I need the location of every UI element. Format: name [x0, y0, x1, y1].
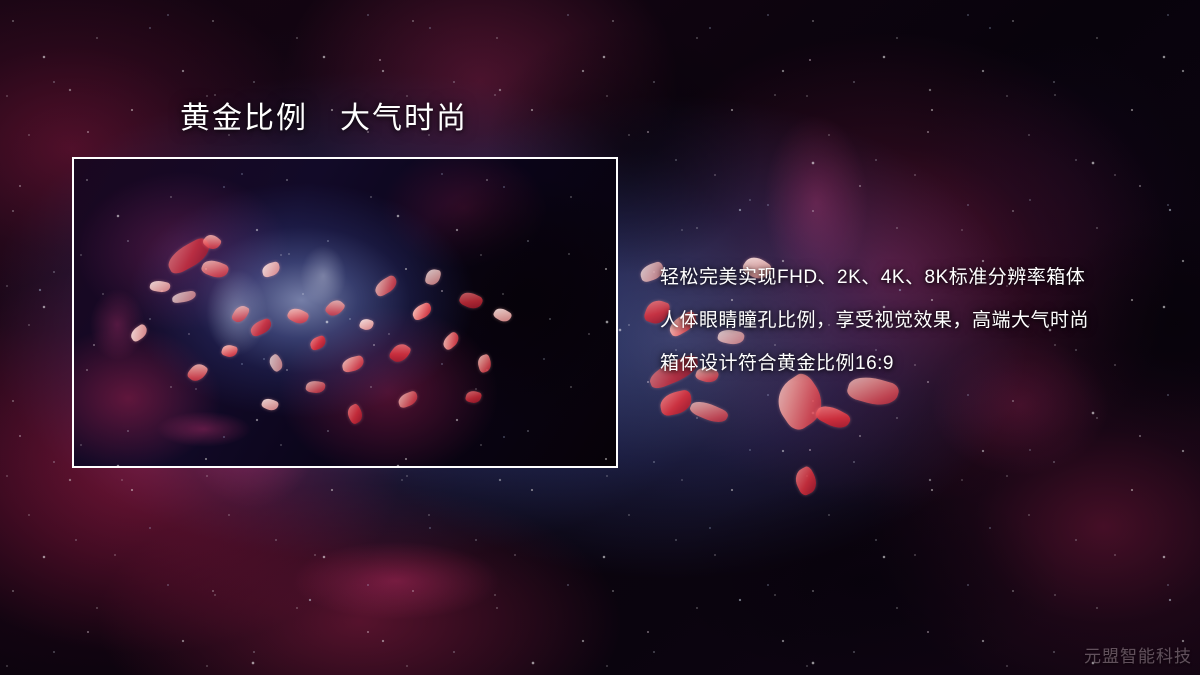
body-text-block: 轻松完美实现FHD、2K、4K、8K标准分辨率箱体 人体眼睛瞳孔比例，享受视觉效…	[660, 256, 1180, 385]
watermark: 元盟智能科技	[1084, 642, 1192, 667]
body-line-1: 轻松完美实现FHD、2K、4K、8K标准分辨率箱体	[660, 256, 1180, 299]
framed-image-wisps	[74, 159, 616, 466]
body-line-2: 人体眼睛瞳孔比例，享受视觉效果，高端大气时尚	[660, 299, 1180, 342]
slide-canvas: 黄金比例 大气时尚 轻松完美实现FHD、2K、4K、8K标准分辨率箱体 人体眼睛…	[0, 0, 1200, 675]
body-line-3: 箱体设计符合黄金比例16:9	[660, 342, 1180, 385]
framed-image	[72, 157, 618, 468]
page-title: 黄金比例 大气时尚	[180, 100, 468, 138]
